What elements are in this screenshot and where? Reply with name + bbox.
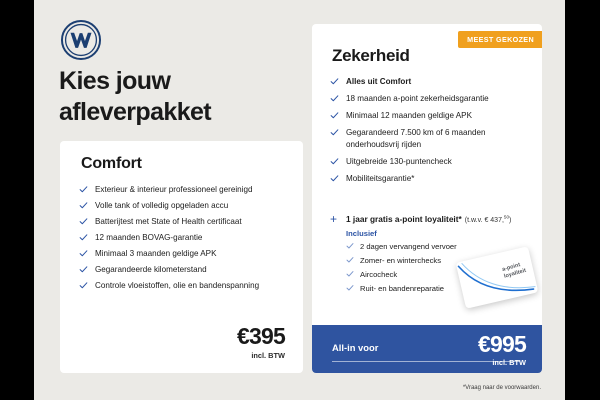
list-item-label: Exterieur & interieur professioneel gere… bbox=[95, 185, 252, 194]
list-item-label: 18 maanden a-point zekerheidsgarantie bbox=[346, 94, 489, 103]
list-item-label: Minimaal 12 maanden geldige APK bbox=[346, 111, 472, 120]
loyalty-value: (t.w.v. € 437,50) bbox=[465, 217, 512, 224]
list-item-label: Controle vloeistoffen, olie en bandenspa… bbox=[95, 281, 259, 290]
list-item: Gegarandeerde kilometerstand bbox=[79, 264, 289, 275]
check-icon bbox=[79, 185, 88, 194]
plus-icon: + bbox=[330, 213, 337, 225]
list-item-label: Volle tank of volledig opgeladen accu bbox=[95, 201, 228, 210]
comfort-feature-list: Exterieur & interieur professioneel gere… bbox=[79, 184, 289, 296]
list-item-label: Mobiliteitsgarantie* bbox=[346, 174, 414, 183]
check-icon bbox=[79, 201, 88, 210]
list-item-label: Uitgebreide 130-puntencheck bbox=[346, 157, 452, 166]
check-icon bbox=[346, 256, 354, 264]
list-item-label: Alles uit Comfort bbox=[346, 77, 411, 86]
list-item: 2 dagen vervangend vervoer bbox=[346, 242, 496, 252]
loyalty-highlight-row: + 1 jaar gratis a-point loyaliteit*(t.w.… bbox=[330, 214, 535, 225]
zekerheid-title: Zekerheid bbox=[332, 46, 410, 66]
list-item: Minimaal 3 maanden geldige APK bbox=[79, 248, 289, 259]
zekerheid-feature-list: Alles uit Comfort 18 maanden a-point zek… bbox=[330, 76, 530, 190]
check-icon bbox=[79, 281, 88, 290]
check-icon bbox=[330, 157, 339, 166]
list-item: Exterieur & interieur professioneel gere… bbox=[79, 184, 289, 195]
list-item-label: Ruit- en bandenreparatie bbox=[360, 284, 444, 293]
check-icon bbox=[330, 77, 339, 86]
screenshot-stage: Kies jouw afleverpakket Comfort Exterieu… bbox=[0, 0, 600, 400]
zekerheid-price-note: incl. BTW bbox=[478, 358, 526, 367]
check-icon bbox=[346, 270, 354, 278]
status-badge: MEEST GEKOZEN bbox=[458, 31, 542, 48]
list-item: Volle tank of volledig opgeladen accu bbox=[79, 200, 289, 211]
comfort-price-note: incl. BTW bbox=[237, 351, 285, 360]
list-item-label: Gegarandeerde kilometerstand bbox=[95, 265, 207, 274]
loyalty-value-prefix: (t.w.v. € 437, bbox=[465, 217, 504, 224]
check-icon bbox=[79, 233, 88, 242]
includes-title: Inclusief bbox=[346, 229, 496, 238]
check-icon bbox=[346, 242, 354, 250]
list-item-label: 12 maanden BOVAG-garantie bbox=[95, 233, 202, 242]
list-item-label: Batterijtest met State of Health certifi… bbox=[95, 217, 242, 226]
loyalty-label: 1 jaar gratis a-point loyaliteit* bbox=[346, 214, 462, 224]
list-item: Alles uit Comfort bbox=[330, 76, 530, 87]
comfort-price-block: €395 incl. BTW bbox=[237, 325, 285, 360]
check-icon bbox=[330, 94, 339, 103]
check-icon bbox=[346, 284, 354, 292]
comfort-price: €395 bbox=[237, 325, 285, 348]
list-item: Mobiliteitsgarantie* bbox=[330, 173, 530, 184]
page-title: Kies jouw afleverpakket bbox=[59, 66, 299, 127]
promo-canvas: Kies jouw afleverpakket Comfort Exterieu… bbox=[34, 0, 565, 400]
list-item: 18 maanden a-point zekerheidsgarantie bbox=[330, 93, 530, 104]
check-icon bbox=[79, 217, 88, 226]
check-icon bbox=[79, 265, 88, 274]
allin-label: All-in voor bbox=[332, 342, 378, 353]
list-item-label: Minimaal 3 maanden geldige APK bbox=[95, 249, 216, 258]
zekerheid-package-card[interactable]: MEEST GEKOZEN Zekerheid Alles uit Comfor… bbox=[312, 24, 542, 373]
loyalty-value-suffix: ) bbox=[509, 217, 511, 224]
check-icon bbox=[79, 249, 88, 258]
footnote: *Vraag naar de voorwaarden. bbox=[463, 385, 541, 391]
volkswagen-logo bbox=[60, 19, 102, 61]
zekerheid-price: €995 bbox=[478, 333, 526, 356]
list-item-label: 2 dagen vervangend vervoer bbox=[360, 242, 457, 251]
list-item: Minimaal 12 maanden geldige APK bbox=[330, 110, 530, 121]
list-item-label: Gegarandeerd 7.500 km of 6 maanden onder… bbox=[346, 128, 486, 148]
list-item: 12 maanden BOVAG-garantie bbox=[79, 232, 289, 243]
list-item: Controle vloeistoffen, olie en bandenspa… bbox=[79, 280, 289, 291]
list-item: Batterijtest met State of Health certifi… bbox=[79, 216, 289, 227]
zekerheid-price-footer: All-in voor €995 incl. BTW bbox=[312, 325, 542, 373]
list-item-label: Aircocheck bbox=[360, 270, 397, 279]
check-icon bbox=[330, 128, 339, 137]
list-item: Gegarandeerd 7.500 km of 6 maanden onder… bbox=[330, 127, 530, 149]
zekerheid-price-block: €995 incl. BTW bbox=[478, 333, 526, 367]
check-icon bbox=[330, 174, 339, 183]
comfort-title: Comfort bbox=[81, 155, 142, 173]
check-icon bbox=[330, 111, 339, 120]
list-item: Uitgebreide 130-puntencheck bbox=[330, 156, 530, 167]
comfort-package-card[interactable]: Comfort Exterieur & interieur profession… bbox=[60, 141, 303, 373]
list-item-label: Zomer- en winterchecks bbox=[360, 256, 441, 265]
